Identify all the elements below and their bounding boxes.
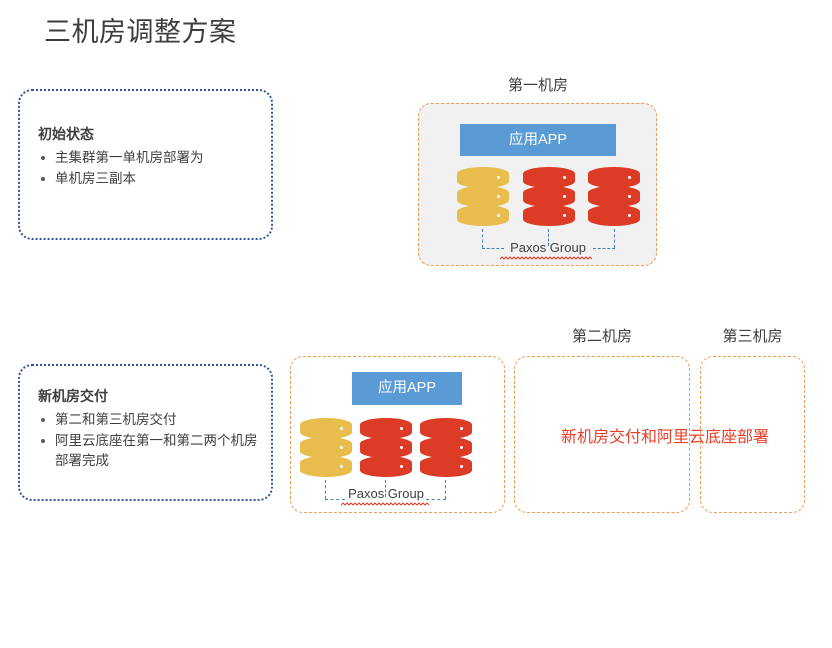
db-segment bbox=[457, 205, 509, 226]
db-indicator-dot bbox=[497, 214, 500, 217]
db-segment bbox=[360, 418, 412, 439]
room-container-first: 应用APP Paxos Group bbox=[418, 103, 657, 266]
app-bar-main-cluster: 应用APP bbox=[352, 372, 462, 405]
db-segment bbox=[588, 186, 640, 207]
database-cylinder-red-2 bbox=[420, 418, 472, 476]
db-segment bbox=[300, 456, 352, 477]
database-cylinder-yellow bbox=[457, 167, 509, 225]
paxos-group-label: Paxos Group bbox=[498, 240, 598, 256]
database-cylinder-red-1 bbox=[360, 418, 412, 476]
note-content-initial-state: 初始状态 主集群第一单机房部署为 单机房三副本 bbox=[38, 124, 261, 190]
paxos-connector-left-stem bbox=[482, 229, 483, 248]
db-indicator-dot bbox=[563, 214, 566, 217]
db-segment bbox=[300, 437, 352, 458]
db-indicator-dot bbox=[400, 427, 403, 430]
note-box-initial-state: 初始状态 主集群第一单机房部署为 单机房三副本 bbox=[18, 89, 273, 240]
note-box-new-room-delivery: 新机房交付 第二和第三机房交付 阿里云底座在第一和第二两个机房部署完成 bbox=[18, 364, 273, 501]
db-segment bbox=[523, 167, 575, 188]
page-title: 三机房调整方案 bbox=[44, 14, 237, 50]
paxos-connector-left-stem bbox=[325, 480, 326, 499]
note-content-new-room-delivery: 新机房交付 第二和第三机房交付 阿里云底座在第一和第二两个机房部署完成 bbox=[38, 386, 261, 472]
db-indicator-dot bbox=[628, 176, 631, 179]
db-indicator-dot bbox=[563, 176, 566, 179]
room-title-first: 第一机房 bbox=[418, 76, 658, 96]
note-heading-initial-state: 初始状态 bbox=[38, 124, 261, 144]
spellcheck-underline bbox=[500, 256, 596, 260]
db-indicator-dot bbox=[497, 176, 500, 179]
db-indicator-dot bbox=[563, 195, 566, 198]
list-item: 单机房三副本 bbox=[38, 169, 261, 189]
paxos-group-label: Paxos Group bbox=[339, 486, 433, 502]
room-container-main-cluster: 应用APP Paxos Group bbox=[290, 356, 505, 513]
database-cylinder-red-1 bbox=[523, 167, 575, 225]
paxos-group-text: Paxos Group bbox=[510, 240, 586, 255]
note-heading-new-room-delivery: 新机房交付 bbox=[38, 386, 261, 406]
db-segment bbox=[588, 205, 640, 226]
db-indicator-dot bbox=[460, 465, 463, 468]
list-item: 第二和第三机房交付 bbox=[38, 410, 261, 430]
db-segment bbox=[523, 186, 575, 207]
list-item: 主集群第一单机房部署为 bbox=[38, 148, 261, 168]
paxos-connector-right-stem bbox=[614, 229, 615, 248]
db-segment bbox=[523, 205, 575, 226]
db-indicator-dot bbox=[400, 465, 403, 468]
db-indicator-dot bbox=[628, 195, 631, 198]
db-segment bbox=[457, 186, 509, 207]
note-bullet-list-initial-state: 主集群第一单机房部署为 单机房三副本 bbox=[38, 148, 261, 189]
db-segment bbox=[420, 437, 472, 458]
db-indicator-dot bbox=[460, 427, 463, 430]
db-indicator-dot bbox=[460, 446, 463, 449]
db-segment bbox=[300, 418, 352, 439]
db-indicator-dot bbox=[497, 195, 500, 198]
paxos-connector-right-stem bbox=[445, 480, 446, 499]
db-segment bbox=[588, 167, 640, 188]
spellcheck-underline bbox=[341, 502, 431, 506]
room-title-third: 第三机房 bbox=[700, 327, 805, 347]
note-bullet-list-new-room-delivery: 第二和第三机房交付 阿里云底座在第一和第二两个机房部署完成 bbox=[38, 410, 261, 471]
new-room-annotation: 新机房交付和阿里云底座部署 bbox=[525, 427, 805, 449]
app-bar-first-room: 应用APP bbox=[460, 124, 616, 156]
db-indicator-dot bbox=[340, 465, 343, 468]
db-indicator-dot bbox=[400, 446, 403, 449]
room-title-second: 第二机房 bbox=[514, 327, 690, 347]
db-segment bbox=[420, 418, 472, 439]
db-segment bbox=[360, 456, 412, 477]
paxos-group-text: Paxos Group bbox=[348, 486, 424, 501]
database-cylinder-red-2 bbox=[588, 167, 640, 225]
db-indicator-dot bbox=[340, 446, 343, 449]
db-indicator-dot bbox=[628, 214, 631, 217]
database-cylinder-yellow bbox=[300, 418, 352, 476]
db-indicator-dot bbox=[340, 427, 343, 430]
db-segment bbox=[360, 437, 412, 458]
db-segment bbox=[420, 456, 472, 477]
db-segment bbox=[457, 167, 509, 188]
list-item: 阿里云底座在第一和第二两个机房部署完成 bbox=[38, 431, 261, 471]
